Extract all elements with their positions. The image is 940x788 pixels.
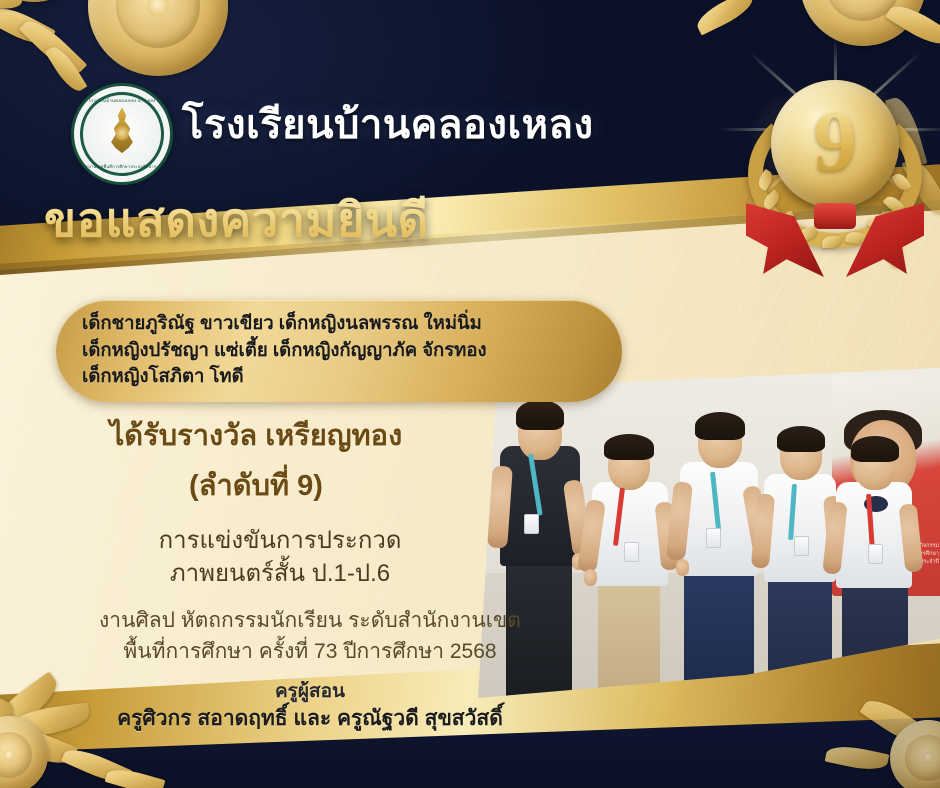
- event-line-2: พื้นที่การศึกษา ครั้งที่ 73 ปีการศึกษา 2…: [0, 636, 620, 667]
- ribbon-knot: [814, 203, 856, 229]
- school-logo: โรงเรียนบ้านคลองเหลง อ.ระยอง สำนักงานเขต…: [74, 86, 170, 182]
- medal-disc: 9: [771, 80, 899, 208]
- teacher-names: ครูศิวกร สอาดฤทธิ์ และ ครูณัฐวดี สุขสวัส…: [0, 702, 620, 735]
- award-title: ได้รับรางวัล เหรียญทอง: [0, 418, 512, 454]
- student-names-line-3: เด็กหญิงโสภิตา โทดี: [82, 363, 596, 390]
- student-names-panel: เด็กชายภูริณัฐ ขาวเขียว เด็กหญิงนลพรรณ ใ…: [56, 300, 622, 402]
- page-title: โรงเรียนบ้านคลองเหลง: [182, 92, 594, 156]
- medal-rank-number: 9: [771, 80, 899, 208]
- gold-medal-badge: 9: [740, 66, 930, 281]
- congratulations-headline: ขอแสดงความยินดี: [44, 182, 429, 257]
- congratulation-poster: โรงเรียนบ้านคลองเหลง อ.ระยอง สำนักงานเขต…: [0, 0, 940, 788]
- event-line-1: งานศิลป หัตถกรรมนักเรียน ระดับสำนักงานเข…: [0, 605, 620, 636]
- contest-name: การแข่งขันการประกวด ภาพยนตร์สั้น ป.1-ป.6: [0, 524, 560, 590]
- logo-circle: โรงเรียนบ้านคลองเหลง อ.ระยอง สำนักงานเขต…: [74, 86, 170, 182]
- student-names-line-1: เด็กชายภูริณัฐ ขาวเขียว เด็กหญิงนลพรรณ ใ…: [82, 310, 596, 337]
- logo-text-top: โรงเรียนบ้านคลองเหลง อ.ระยอง: [74, 97, 170, 104]
- contest-line-2: ภาพยนตร์สั้น ป.1-ป.6: [0, 557, 560, 590]
- student-names-line-2: เด็กหญิงปรัชญา แซ่เตี้ย เด็กหญิงกัญญาภัค…: [82, 337, 596, 364]
- event-details: งานศิลป หัตถกรรมนักเรียน ระดับสำนักงานเข…: [0, 605, 620, 667]
- contest-line-1: การแข่งขันการประกวด: [0, 524, 560, 557]
- logo-text-bottom: สำนักงานเขตพื้นที่การศึกษาประถมศึกษาระยอ…: [74, 163, 170, 170]
- award-rank: (ลำดับที่ 9): [0, 462, 512, 508]
